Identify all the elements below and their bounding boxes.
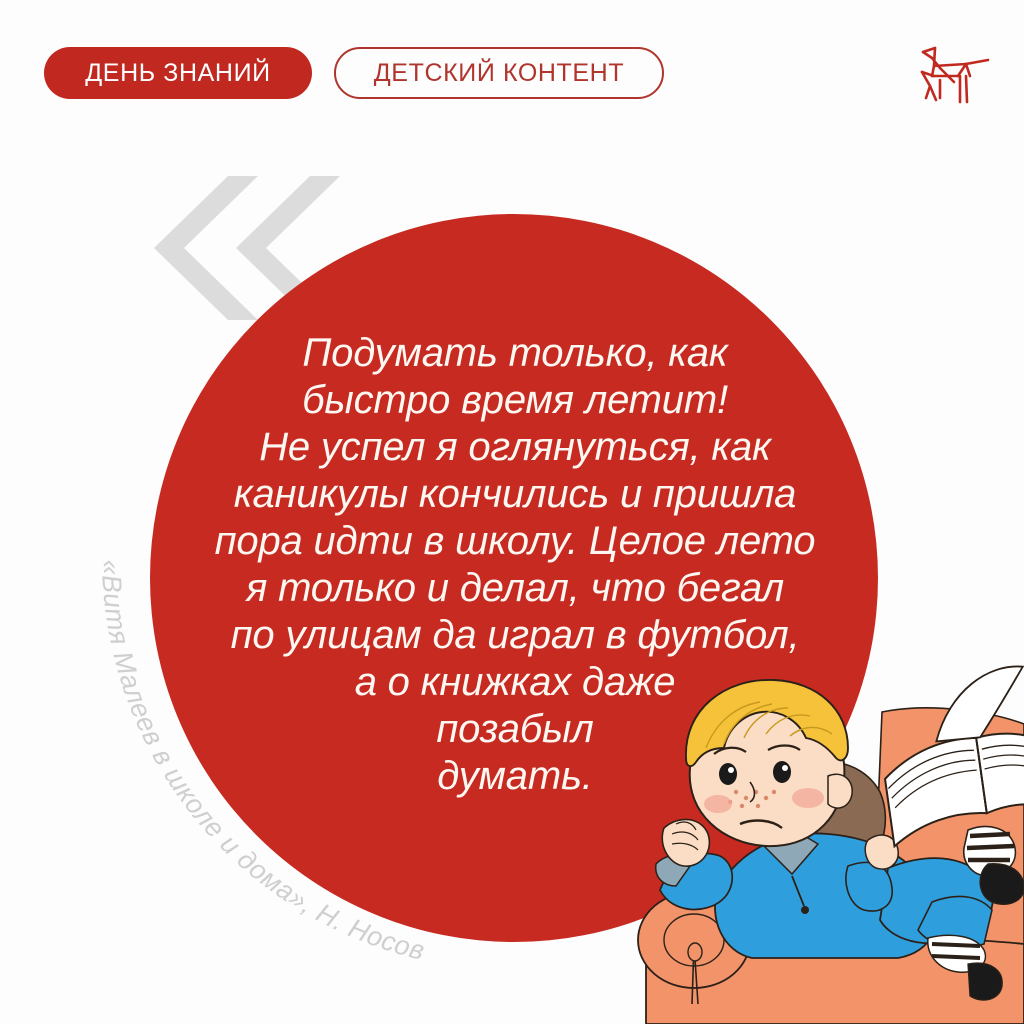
horse-line-logo-icon[interactable] <box>910 36 996 112</box>
poster-canvas: ДЕНЬ ЗНАНИЙ ДЕТСКИЙ КОНТЕНТ <box>0 0 1024 1024</box>
header-badges: ДЕНЬ ЗНАНИЙ ДЕТСКИЙ КОНТЕНТ <box>44 47 664 99</box>
boy-reading-illustration <box>632 652 1024 1024</box>
badge-den-znaniy[interactable]: ДЕНЬ ЗНАНИЙ <box>44 47 312 99</box>
badge-detskiy-kontent[interactable]: ДЕТСКИЙ КОНТЕНТ <box>334 47 664 99</box>
